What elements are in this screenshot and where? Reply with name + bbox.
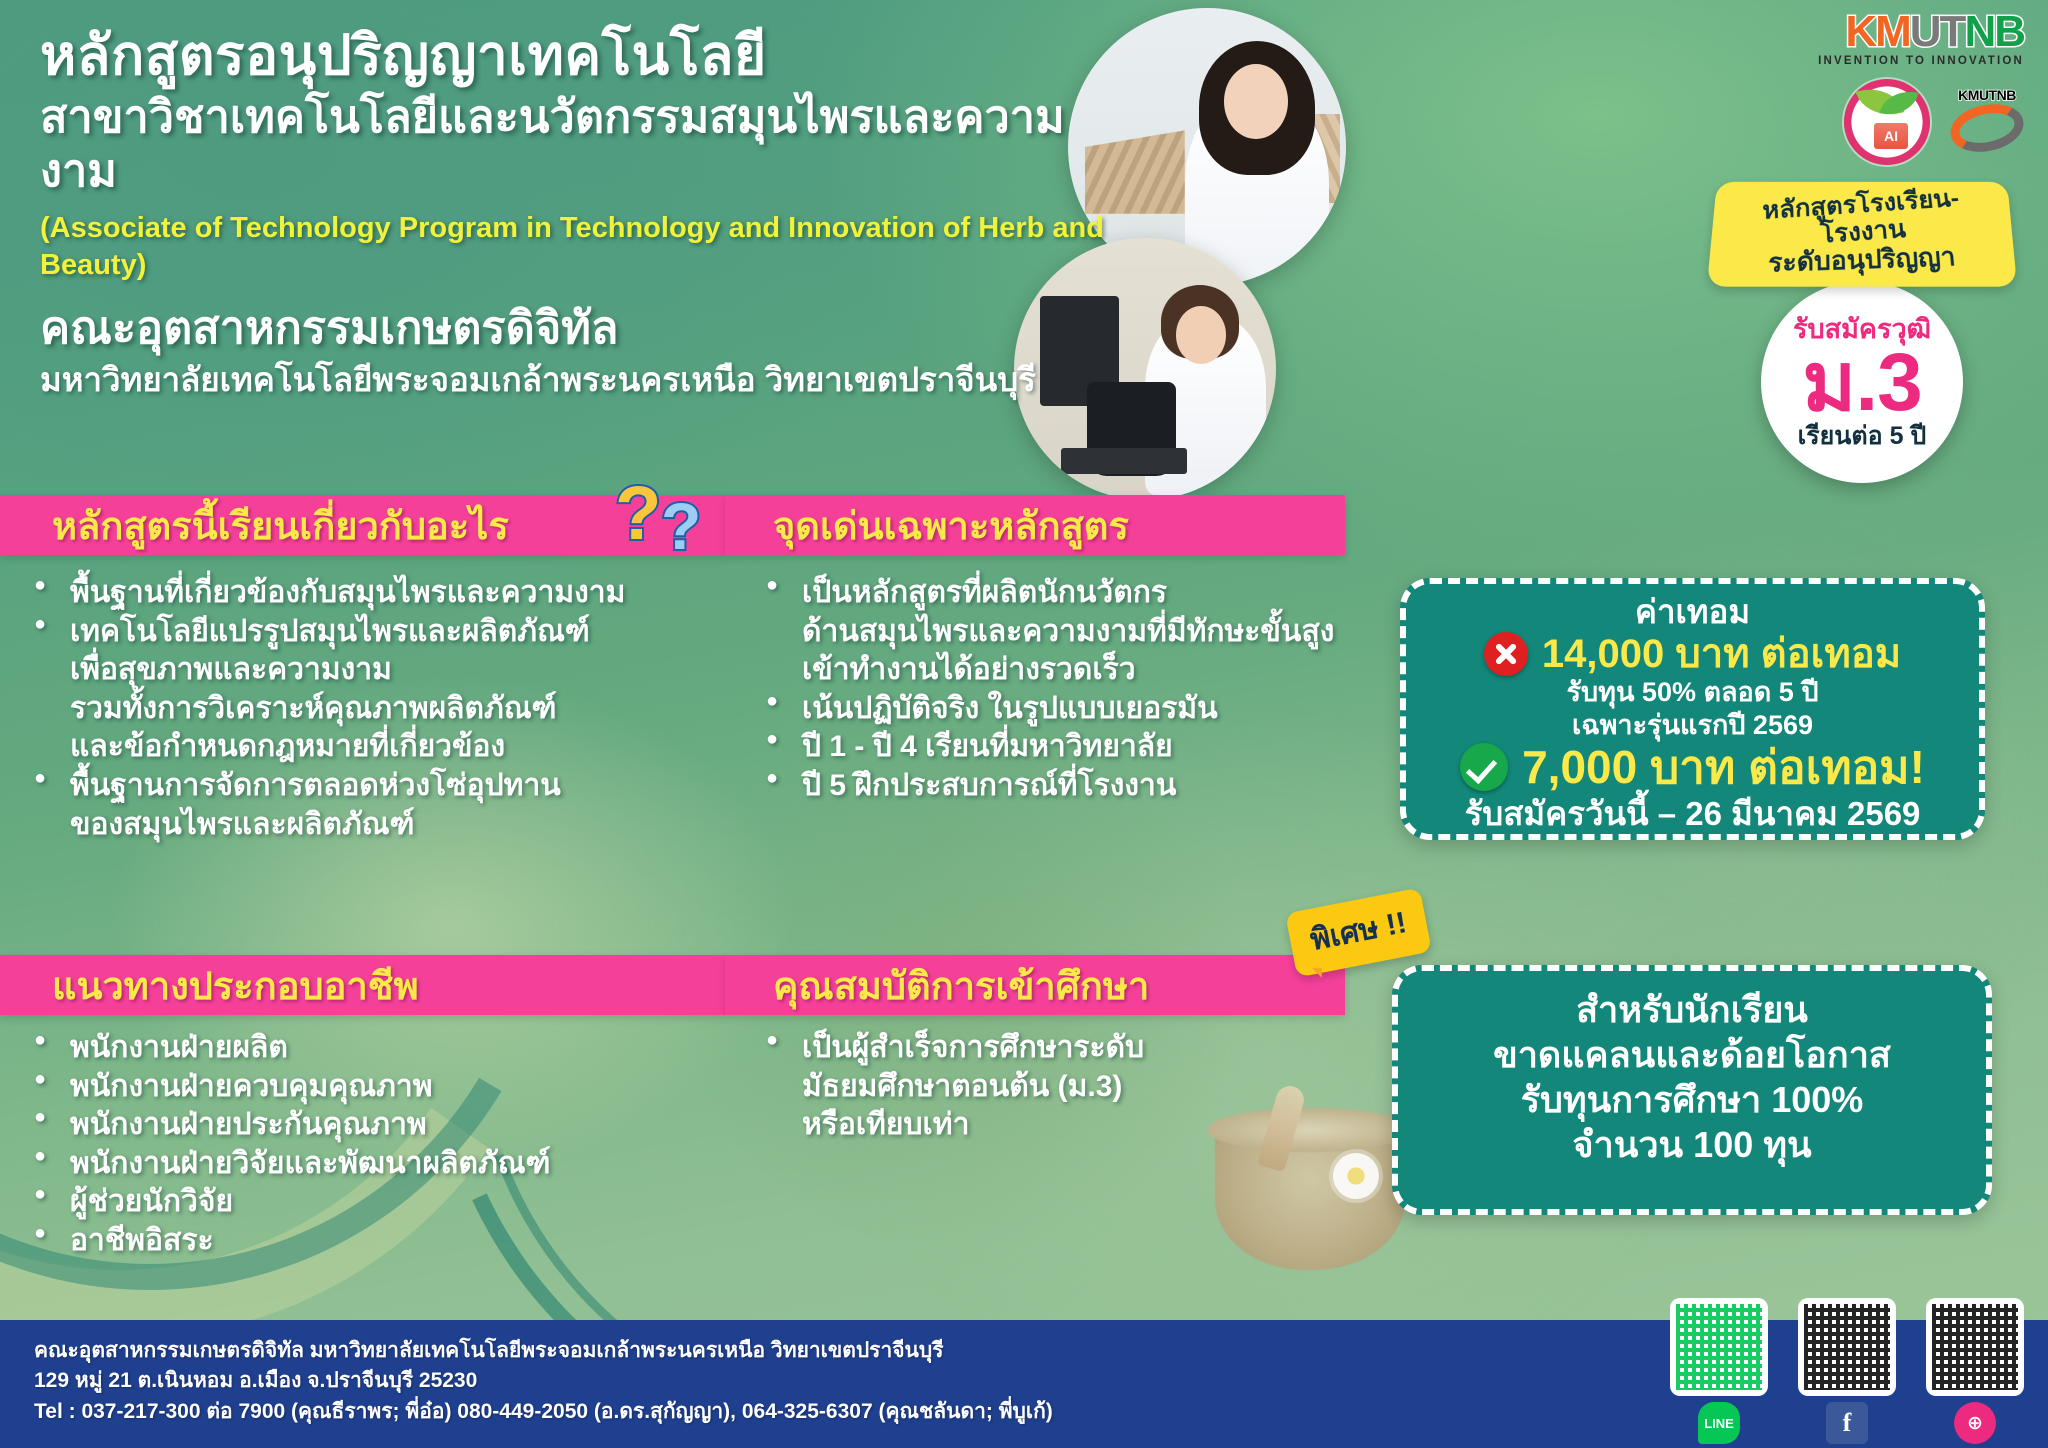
list-item: หรือเทียบเท่า <box>760 1107 1340 1144</box>
badge-level-value: ม.3 <box>1802 343 1921 423</box>
secondary-logos: AI KMUTNB <box>1812 79 2030 165</box>
page-title: หลักสูตรอนุปริญญาเทคโนโลยี <box>40 24 1120 88</box>
qr-code-facebook[interactable] <box>1798 1298 1896 1396</box>
person-face <box>1224 64 1288 139</box>
kmutnb-66th-anniversary-logo: KMUTNB <box>1944 87 2030 157</box>
qr-line[interactable]: LINE <box>1670 1298 1768 1444</box>
list-item: พนักงานฝ่ายประกันคุณภาพ <box>28 1107 728 1144</box>
list-item: เทคโนโลยีแปรรูปสมุนไพรและผลิตภัณฑ์ <box>28 614 728 651</box>
facebook-icon[interactable]: f <box>1826 1402 1868 1444</box>
tuition-new-row: 7,000 บาท ต่อเทอม! <box>1422 743 1963 791</box>
kmutnb-letters-ut: UT <box>1910 7 1965 56</box>
qr-code-group: LINE f ⊕ <box>1670 1298 2024 1444</box>
application-deadline: รับสมัครวันนี้ – 26 มีนาคม 2569 <box>1422 795 1963 833</box>
list-item: พนักงานฝ่ายวิจัยและพัฒนาผลิตภัณฑ์ <box>28 1146 728 1183</box>
list-item: มัธยมศึกษาตอนต้น (ม.3) <box>760 1069 1340 1106</box>
tuition-new-price: 7,000 บาท ต่อเทอม! <box>1522 743 1925 791</box>
tuition-note-1: รับทุน 50% ตลอด 5 ปี <box>1422 676 1963 708</box>
list-item: ปี 1 - ปี 4 เรียนที่มหาวิทยาลัย <box>760 729 1360 766</box>
qr-code-website[interactable] <box>1926 1298 2024 1396</box>
kmutnb-letter-n: N <box>1964 7 1994 56</box>
scholarship-line-4: จำนวน 100 ทุน <box>1414 1122 1970 1167</box>
ai-label: AI <box>1874 123 1908 149</box>
list-item: พื้นฐานการจัดการตลอดห่วงโซ่อุปทาน <box>28 768 728 805</box>
list-item: และข้อกำหนดกฎหมายที่เกี่ยวข้อง <box>28 729 728 766</box>
person-face <box>1176 306 1226 364</box>
line-icon[interactable]: LINE <box>1698 1402 1740 1444</box>
list-item: เข้าทำงานได้อย่างรวดเร็ว <box>760 652 1360 689</box>
list-item: พนักงานฝ่ายควบคุมคุณภาพ <box>28 1069 728 1106</box>
tuition-note-2: เฉพาะรุ่นแรกปี 2569 <box>1422 709 1963 741</box>
kmutnb-logo: KMUTNB INVENTION TO INNOVATION <box>1812 8 2030 69</box>
kmutnb-tagline: INVENTION TO INNOVATION <box>1818 55 2024 67</box>
scholarship-line-1: สำหรับนักเรียน <box>1414 987 1970 1032</box>
kmutnb-mini-wordmark: KMUTNB <box>1944 87 2030 103</box>
scholarship-panel: สำหรับนักเรียน ขาดแคลนและด้อยโอกาส รับทุ… <box>1392 965 1992 1215</box>
kmutnb-letter-k: K <box>1845 7 1875 56</box>
list-item: พื้นฐานที่เกี่ยวข้องกับสมุนไพรและความงาม <box>28 575 728 612</box>
qr-pixels <box>1804 1304 1890 1390</box>
list-item: เป็นผู้สำเร็จการศึกษาระดับ <box>760 1030 1340 1067</box>
cross-icon <box>1484 632 1528 676</box>
tuition-old-price: 14,000 บาท ต่อเทอม <box>1542 633 1901 675</box>
question-mark-icon: ? <box>615 470 661 557</box>
digital-agro-industry-ai-logo: AI <box>1844 79 1930 165</box>
list-item: ของสมุนไพรและผลิตภัณฑ์ <box>28 807 728 844</box>
faculty-name: คณะอุตสาหกรรมเกษตรดิจิทัล <box>40 301 1120 355</box>
kmutnb-letter-b: B <box>1994 7 2024 56</box>
list-item: ผู้ช่วยนักวิจัย <box>28 1184 728 1221</box>
qr-website[interactable]: ⊕ <box>1926 1298 2024 1444</box>
section-header-careers: แนวทางประกอบอาชีพ <box>0 955 725 1015</box>
contact-phone: Tel : 037-217-300 ต่อ 7900 (คุณธีราพร; พ… <box>34 1397 1053 1427</box>
contact-block: คณะอุตสาหกรรมเกษตรดิจิทัล มหาวิทยาลัยเทค… <box>34 1336 1053 1427</box>
check-icon <box>1460 743 1508 791</box>
tuition-heading: ค่าเทอม <box>1422 594 1963 630</box>
list-item: เน้นปฏิบัติจริง ในรูปแบบเยอรมัน <box>760 691 1360 728</box>
qr-pixels <box>1932 1304 2018 1390</box>
section-title-admission: คุณสมบัติการเข้าศึกษา <box>773 955 1149 1016</box>
admission-list: เป็นผู้สำเร็จการศึกษาระดับมัธยมศึกษาตอนต… <box>760 1030 1340 1146</box>
scholarship-line-2: ขาดแคลนและด้อยโอกาส <box>1414 1032 1970 1077</box>
flower-image <box>1333 1153 1379 1199</box>
question-mark-icon: ? <box>661 488 701 564</box>
qr-pixels <box>1676 1304 1762 1390</box>
list-item: เพื่อสุขภาพและความงาม <box>28 652 728 689</box>
logo-group: KMUTNB INVENTION TO INNOVATION AI KMUTNB <box>1812 8 2030 165</box>
highlights-list: เป็นหลักสูตรที่ผลิตนักนวัตกรด้านสมุนไพรแ… <box>760 575 1360 807</box>
careers-list: พนักงานฝ่ายผลิตพนักงานฝ่ายควบคุมคุณภาพพน… <box>28 1030 728 1262</box>
tuition-old-row: 14,000 บาท ต่อเทอม <box>1422 632 1963 676</box>
about-list: พื้นฐานที่เกี่ยวข้องกับสมุนไพรและความงาม… <box>28 575 728 845</box>
qr-facebook[interactable]: f <box>1798 1298 1896 1444</box>
section-title-careers: แนวทางประกอบอาชีพ <box>52 955 419 1016</box>
mortar-image <box>1215 1130 1405 1270</box>
leaf-icon <box>1879 86 1918 120</box>
m3-circle-badge: รับสมัครวุฒิ ม.3 เรียนต่อ 5 ปี <box>1761 281 1963 483</box>
kmutnb-wordmark: KMUTNB <box>1818 10 2024 54</box>
section-header-admission: คุณสมบัติการเข้าศึกษา <box>725 955 1345 1015</box>
badge-duration-label: เรียนต่อ 5 ปี <box>1798 424 1927 449</box>
contact-faculty: คณะอุตสาหกรรมเกษตรดิจิทัล มหาวิทยาลัยเทค… <box>34 1336 1053 1366</box>
list-item: พนักงานฝ่ายผลิต <box>28 1030 728 1067</box>
section-title-highlights: จุดเด่นเฉพาะหลักสูตร <box>773 495 1129 556</box>
tuition-panel: ค่าเทอม 14,000 บาท ต่อเทอม รับทุน 50% ตล… <box>1400 578 1985 840</box>
list-item: เป็นหลักสูตรที่ผลิตนักนวัตกร <box>760 575 1360 612</box>
header-titles: หลักสูตรอนุปริญญาเทคโนโลยี สาขาวิชาเทคโน… <box>40 24 1120 400</box>
admission-badge: หลักสูตรโรงเรียน-โรงงาน ระดับอนุปริญญา ร… <box>1712 178 2012 483</box>
list-item: อาชีพอิสระ <box>28 1223 728 1260</box>
kmutnb-letter-m: M <box>1875 7 1910 56</box>
university-name: มหาวิทยาลัยเทคโนโลยีพระจอมเกล้าพระนครเหน… <box>40 359 1120 400</box>
list-item: ด้านสมุนไพรและความงามที่มีทักษะขั้นสูง <box>760 614 1360 651</box>
website-globe-icon[interactable]: ⊕ <box>1954 1402 1996 1444</box>
program-title-english: (Associate of Technology Program in Tech… <box>40 210 1120 285</box>
section-header-highlights: จุดเด่นเฉพาะหลักสูตร <box>725 495 1345 555</box>
list-item: รวมทั้งการวิเคราะห์คุณภาพผลิตภัณฑ์ <box>28 691 728 728</box>
list-item: ปี 5 ฝึกประสบการณ์ที่โรงงาน <box>760 768 1360 805</box>
infinity-icon <box>1946 98 2028 158</box>
ribbon-banner: หลักสูตรโรงเรียน-โรงงาน ระดับอนุปริญญา <box>1707 182 2017 287</box>
scholarship-line-3: รับทุนการศึกษา 100% <box>1414 1077 1970 1122</box>
program-subtitle: สาขาวิชาเทคโนโลยีและนวัตกรรมสมุนไพรและคว… <box>40 90 1120 198</box>
poster-root: หลักสูตรอนุปริญญาเทคโนโลยี สาขาวิชาเทคโน… <box>0 0 2048 1448</box>
contact-address: 129 หมู่ 21 ต.เนินหอม อ.เมือง จ.ปราจีนบุ… <box>34 1366 1053 1396</box>
keyboard-decor <box>1061 448 1187 474</box>
qr-code-line[interactable] <box>1670 1298 1768 1396</box>
section-title-about: หลักสูตรนี้เรียนเกี่ยวกับอะไร <box>52 495 509 556</box>
